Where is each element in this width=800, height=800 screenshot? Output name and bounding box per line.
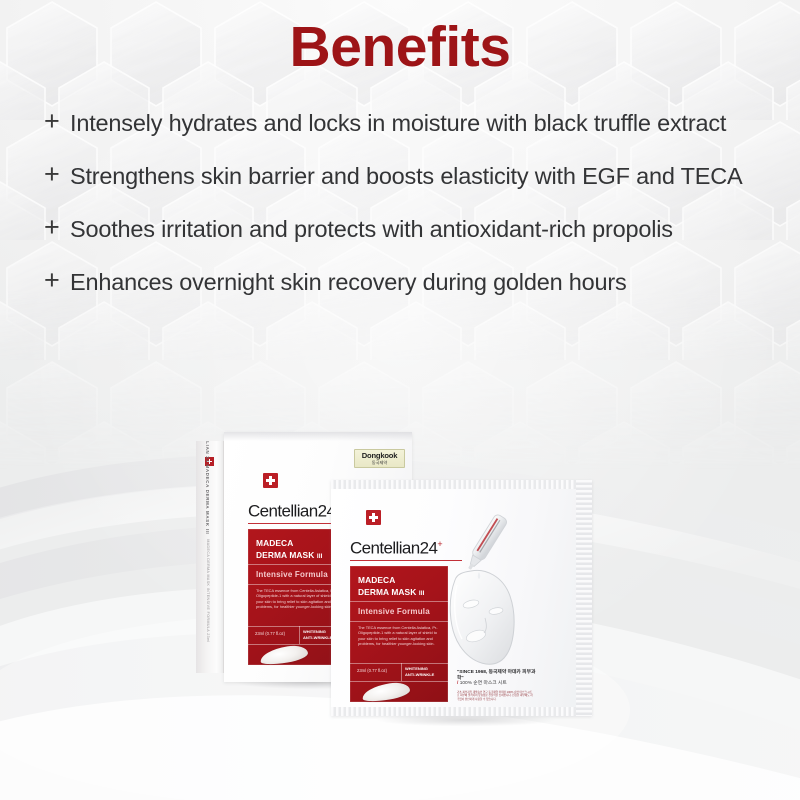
- plus-icon: +: [44, 106, 70, 136]
- volume-label: 23ml (0.77 fl.oz): [357, 667, 399, 674]
- benefit-text: Enhances overnight skin recovery during …: [70, 265, 760, 299]
- product-name: MADECA DERMA MASK III: [358, 574, 440, 600]
- product-sachet: Centellian24+ MADECA DERMA MASK III Inte…: [331, 480, 592, 720]
- page-title: Benefits: [0, 14, 800, 80]
- list-item: + Intensely hydrates and locks in moistu…: [44, 106, 760, 140]
- plus-icon: +: [44, 265, 70, 295]
- manufacturer-name-en: Dongkook: [355, 452, 404, 460]
- plus-icon: +: [44, 212, 70, 242]
- cross-logo-icon: [366, 510, 381, 525]
- fine-print: 기초 피부과학 개발승인 연구 동국제약 마데카 100% 순면 마스크 시트로…: [457, 691, 533, 701]
- divider: [299, 626, 300, 644]
- sachet-front-panel: Centellian24+ MADECA DERMA MASK III Inte…: [331, 480, 592, 716]
- box-spine-panel: CENTELLIAN 24 MADECA DERMA MASK III MADE…: [196, 441, 224, 673]
- formula-label: Intensive Formula: [256, 569, 338, 581]
- benefits-page: Benefits + Intensely hydrates and locks …: [0, 0, 800, 800]
- spine-brand-text: CENTELLIAN 24 MADECA DERMA MASK III: [205, 441, 210, 534]
- divider: [350, 621, 448, 622]
- list-item: + Soothes irritation and protects with a…: [44, 212, 760, 246]
- product-description: The TECA essence from Centella Asiatica,…: [256, 588, 338, 609]
- sachet-seal-right: [576, 480, 592, 716]
- mask-sheet-graphic: [439, 514, 525, 686]
- product-group: CENTELLIAN 24 MADECA DERMA MASK III MADE…: [196, 432, 616, 732]
- sachet-seal-top: [331, 480, 592, 489]
- cream-swatch-graphic: [361, 680, 411, 703]
- manufacturer-name-ko: 동국제약: [355, 460, 404, 466]
- box-top-shading: [224, 432, 412, 441]
- list-item: + Strengthens skin barrier and boosts el…: [44, 159, 760, 193]
- benefit-text: Strengthens skin barrier and boosts elas…: [70, 159, 760, 193]
- cotton-sheet-text: / 100% 순면 마스크 시트: [457, 681, 537, 687]
- divider: [401, 663, 402, 681]
- cross-logo-icon: [263, 473, 278, 488]
- sachet-seal-bottom: [331, 707, 592, 716]
- list-item: + Enhances overnight skin recovery durin…: [44, 265, 760, 299]
- divider: [350, 601, 448, 602]
- volume-label: 23ml (0.77 fl.oz): [255, 630, 297, 637]
- spine-sub-text: MADECA DERMA MASK INTENSIVE FORMULA 23ml: [206, 539, 210, 642]
- product-description: The TECA essence from Centella Asiatica,…: [358, 625, 440, 646]
- formula-label: Intensive Formula: [358, 606, 440, 618]
- benefits-list: + Intensely hydrates and locks in moistu…: [44, 106, 760, 318]
- divider: [350, 681, 448, 682]
- divider: [350, 663, 448, 664]
- benefit-text: Intensely hydrates and locks in moisture…: [70, 106, 760, 140]
- manufacturer-badge: Dongkook 동국제약: [354, 449, 405, 468]
- plus-icon: +: [44, 159, 70, 189]
- product-name: MADECA DERMA MASK III: [256, 537, 338, 563]
- product-info-panel: MADECA DERMA MASK III Intensive Formula …: [350, 566, 448, 702]
- benefit-text: Soothes irritation and protects with ant…: [70, 212, 760, 246]
- cream-swatch-graphic: [259, 643, 309, 666]
